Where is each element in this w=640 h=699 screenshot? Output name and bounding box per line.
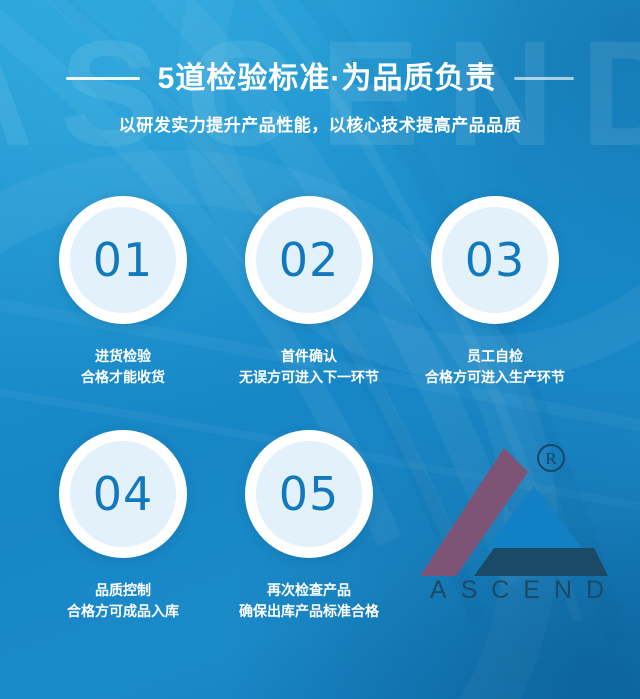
step-caption: 首件确认 无误方可进入下一环节 [239,346,379,388]
step-item-01: 01 进货检验 合格才能收货 [58,196,188,388]
step-caption: 员工自检 合格方可进入生产环节 [425,346,565,388]
step-number: 03 [465,237,526,283]
banner-header: 5道检验标准·为品质负责 以研发实力提升产品性能，以核心技术提高产品品质 [0,62,640,136]
step-number: 05 [279,471,340,517]
step-caption-line1: 首件确认 [239,346,379,367]
step-circle-inner: 05 [256,441,362,547]
step-item-05: 05 再次检查产品 确保出库产品标准合格 [244,430,374,622]
step-caption-line2: 合格方可进入生产环节 [425,367,565,388]
page-title: 5道检验标准·为品质负责 [158,62,497,95]
step-caption-line1: 员工自检 [425,346,565,367]
step-circle: 05 [245,430,373,558]
step-circle: 01 [59,196,187,324]
step-circle-inner: 02 [256,207,362,313]
step-item-02: 02 首件确认 无误方可进入下一环节 [244,196,374,388]
step-circle: 02 [245,196,373,324]
step-caption: 再次检查产品 确保出库产品标准合格 [239,580,379,622]
step-caption-line1: 进货检验 [81,346,165,367]
step-circle-inner: 01 [70,207,176,313]
title-rule-right [514,77,574,80]
step-item-04: 04 品质控制 合格方可成品入库 [58,430,188,622]
step-circle: 03 [431,196,559,324]
step-caption-line1: 再次检查产品 [239,580,379,601]
step-caption-line2: 合格方可成品入库 [67,601,179,622]
title-row: 5道检验标准·为品质负责 [0,62,640,95]
step-number: 01 [93,237,154,283]
ascend-logo: R ASCEND [412,436,636,602]
step-caption: 进货检验 合格才能收货 [81,346,165,388]
step-caption-line2: 确保出库产品标准合格 [239,601,379,622]
step-caption-line1: 品质控制 [67,580,179,601]
step-number: 04 [93,471,154,517]
step-circle-inner: 04 [70,441,176,547]
quality-standards-banner: ASCEND 5道检验标准·为品质负责 以研发实力提升产品性能，以核心技术提高产… [0,0,640,699]
step-number: 02 [279,237,340,283]
logo-wordmark: ASCEND [430,576,618,602]
title-rule-left [66,77,140,80]
step-circle: 04 [59,430,187,558]
step-caption-line2: 合格才能收货 [81,367,165,388]
page-subtitle: 以研发实力提升产品性能，以核心技术提高产品品质 [0,111,640,136]
step-caption: 品质控制 合格方可成品入库 [67,580,179,622]
step-item-03: 03 员工自检 合格方可进入生产环节 [430,196,560,388]
registered-glyph: R [545,449,557,468]
step-caption-line2: 无误方可进入下一环节 [239,367,379,388]
logo-navy-base [474,548,608,576]
steps-row-top: 01 进货检验 合格才能收货 02 首件确认 无误方可进入下一环节 [0,196,640,388]
step-circle-inner: 03 [442,207,548,313]
